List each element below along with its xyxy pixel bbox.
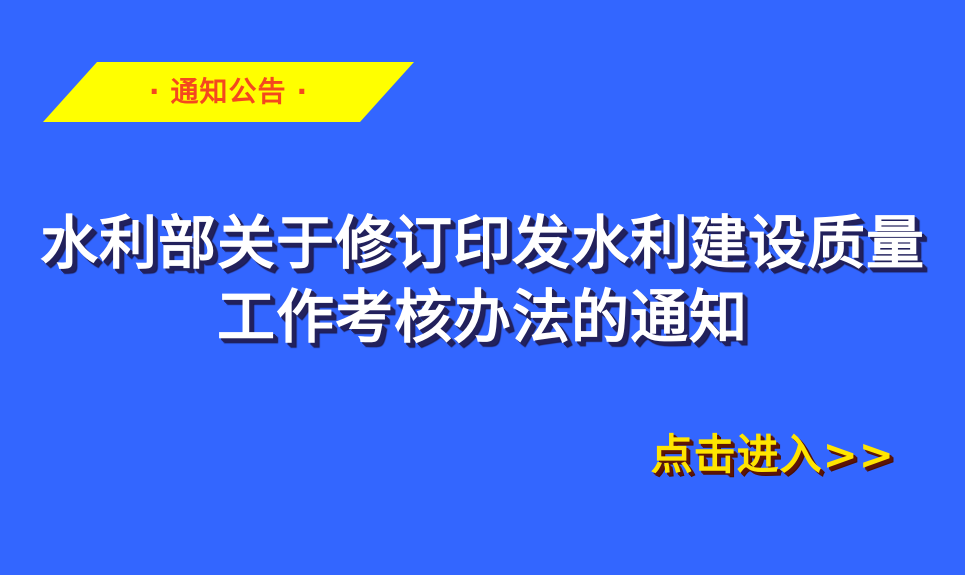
enter-link[interactable]: 点击进入>> — [0, 432, 965, 478]
notice-tag[interactable]: · 通知公告 · — [43, 62, 414, 122]
page-title-line-1: 水利部关于修订印发水利建设质量 — [0, 206, 965, 280]
notice-banner: · 通知公告 · 水利部关于修订印发水利建设质量 工作考核办法的通知 点击进入>… — [0, 0, 965, 575]
tag-right-dot-icon: · — [297, 78, 309, 106]
page-title: 水利部关于修订印发水利建设质量 工作考核办法的通知 — [0, 206, 965, 354]
enter-link-label: 点击进入>> — [651, 430, 895, 479]
tag-label-text: 通知公告 — [170, 78, 286, 106]
page-title-line-2: 工作考核办法的通知 — [0, 280, 965, 354]
tag-left-dot-icon: · — [149, 78, 161, 106]
